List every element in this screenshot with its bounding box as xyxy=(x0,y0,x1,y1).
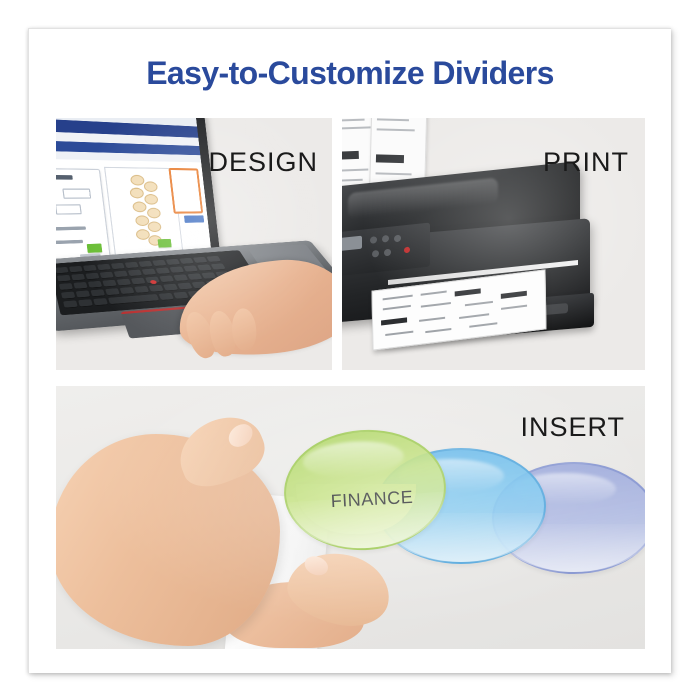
keyboard-key xyxy=(63,300,78,308)
screen-primary-button xyxy=(158,239,172,248)
keyboard-key xyxy=(173,292,189,300)
keyboard-key xyxy=(159,293,175,301)
preview-tab-shape xyxy=(147,221,162,232)
preview-tab-shape xyxy=(130,175,145,186)
sheet-text-line xyxy=(342,119,365,122)
panel-print: PRINT xyxy=(342,118,645,370)
sheet-text-line xyxy=(383,295,413,301)
tab-highlight xyxy=(302,439,405,481)
panel-design: DESIGN xyxy=(56,118,332,370)
sheet-print-block xyxy=(455,288,481,296)
keyboard-key xyxy=(93,298,108,306)
printer-button xyxy=(382,235,389,243)
screen-side-button xyxy=(184,215,204,223)
panel-label-insert: INSERT xyxy=(520,412,625,443)
sheet-text-line xyxy=(377,118,409,121)
printer-lcd-display xyxy=(342,236,362,252)
preview-tab-shape xyxy=(143,181,158,192)
lid-highlight xyxy=(348,177,498,219)
sheet-text-line xyxy=(421,302,451,308)
sheet-text-line xyxy=(342,169,368,172)
sheet-text-line xyxy=(465,301,493,306)
panel-label-print: PRINT xyxy=(543,147,629,178)
preview-tab-shape xyxy=(129,188,144,199)
sheet-text-line xyxy=(501,305,527,310)
printer-button xyxy=(394,235,401,243)
printer-button xyxy=(384,249,391,257)
keyboard-spacebar xyxy=(108,294,159,305)
sheet-text-line xyxy=(383,305,411,310)
sheet-text-line xyxy=(469,322,497,327)
sheet-print-block xyxy=(501,291,527,299)
sheet-text-line xyxy=(342,179,363,182)
sheet-text-line xyxy=(425,328,451,333)
sheet-text-line xyxy=(385,331,413,336)
sheet-print-block xyxy=(342,151,359,160)
sheet-text-line xyxy=(421,291,447,296)
dialog-input xyxy=(56,204,82,214)
panel-label-design: DESIGN xyxy=(208,147,318,178)
sheet-print-block xyxy=(381,317,407,325)
preview-tab-shape xyxy=(144,194,159,205)
sheet-text-line xyxy=(342,126,371,130)
dialog-option-label xyxy=(56,226,86,231)
product-sheet-card: Easy-to-Customize Dividers xyxy=(28,28,671,673)
dialog-option-label xyxy=(56,240,83,245)
sheet-text-line xyxy=(376,172,412,175)
screen-selected-template xyxy=(168,168,203,214)
printer-power-button xyxy=(404,247,410,254)
printer-button xyxy=(372,250,379,258)
printer-button xyxy=(370,236,377,244)
sheet-text-line xyxy=(419,317,445,322)
sheet-text-line xyxy=(459,313,489,319)
preview-tab-shape xyxy=(132,202,147,213)
page-title: Easy-to-Customize Dividers xyxy=(29,55,671,92)
panel-insert: FINANCE INSERT xyxy=(56,386,645,649)
dialog-input xyxy=(62,189,91,199)
keyboard-key xyxy=(78,299,93,307)
dialog-title-bar xyxy=(56,175,73,180)
screen-primary-button xyxy=(87,244,103,253)
preview-tab-shape xyxy=(147,208,162,219)
fingernail xyxy=(224,420,257,452)
sheet-text-line xyxy=(377,128,415,131)
sheet-print-block xyxy=(376,154,404,163)
